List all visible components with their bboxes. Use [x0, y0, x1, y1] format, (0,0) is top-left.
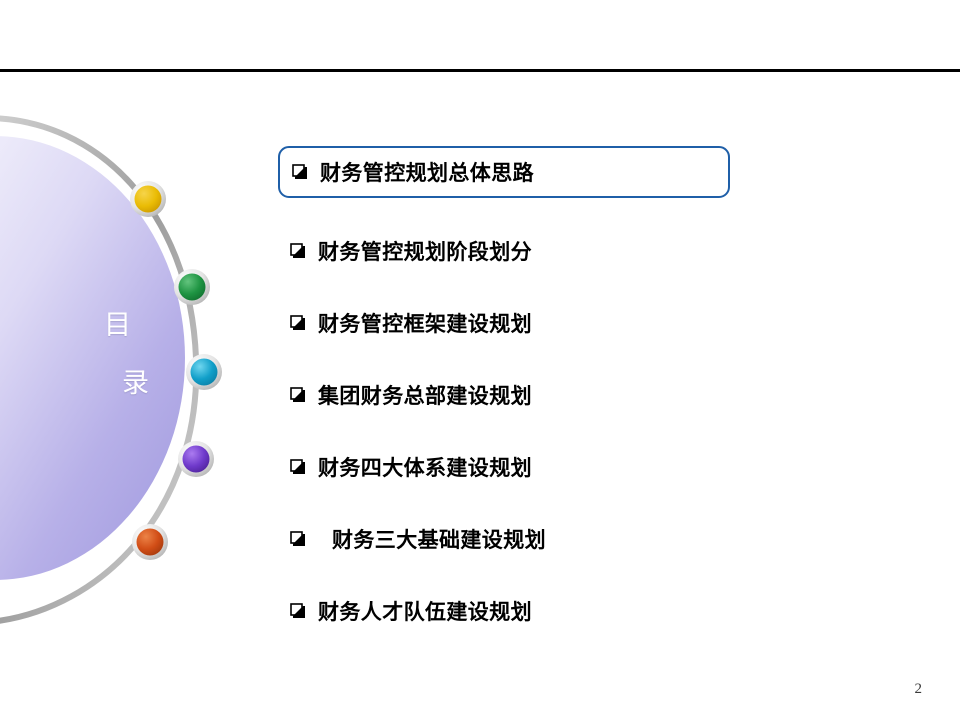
catalogue-char-1: 目	[104, 312, 131, 339]
shadowed-square-icon	[278, 531, 318, 547]
agenda-item-4[interactable]: 集团财务总部建设规划	[278, 376, 532, 414]
agenda-item-6[interactable]: 财务三大基础建设规划	[278, 520, 546, 558]
catalogue-node-orange[interactable]	[132, 524, 168, 560]
agenda-item-3[interactable]: 财务管控框架建设规划	[278, 304, 532, 342]
shadowed-square-icon	[280, 164, 320, 180]
agenda-item-label: 集团财务总部建设规划	[318, 380, 532, 410]
agenda-item-label: 财务四大体系建设规划	[318, 452, 532, 482]
catalogue-node-green[interactable]	[174, 269, 210, 305]
catalogue-node-yellow[interactable]	[130, 181, 166, 217]
catalogue-node-cyan[interactable]	[186, 354, 222, 390]
catalogue-char-2: 录	[122, 370, 149, 397]
shadowed-square-icon	[278, 459, 318, 475]
agenda-item-5[interactable]: 财务四大体系建设规划	[278, 448, 532, 486]
agenda-item-7[interactable]: 财务人才队伍建设规划	[278, 592, 532, 630]
catalogue-node-purple[interactable]	[178, 441, 214, 477]
shadowed-square-icon	[278, 603, 318, 619]
agenda-item-label: 财务管控规划阶段划分	[318, 236, 532, 266]
agenda-item-label: 财务人才队伍建设规划	[318, 596, 532, 626]
shadowed-square-icon	[278, 387, 318, 403]
shadowed-square-icon	[278, 243, 318, 259]
shadowed-square-icon	[278, 315, 318, 331]
agenda-item-label: 财务管控框架建设规划	[318, 308, 532, 338]
page-number: 2	[915, 681, 923, 698]
slide-canvas: 目 录 财务管控规划总体思路 财务管控规划阶段划分 财务管控框架建设规划	[0, 0, 960, 720]
agenda-item-1[interactable]: 财务管控规划总体思路	[278, 146, 730, 198]
agenda-item-2[interactable]: 财务管控规划阶段划分	[278, 232, 532, 270]
agenda-item-label: 财务管控规划总体思路	[320, 157, 534, 187]
agenda-item-label: 财务三大基础建设规划	[318, 524, 546, 554]
catalogue-decoration	[0, 70, 300, 650]
